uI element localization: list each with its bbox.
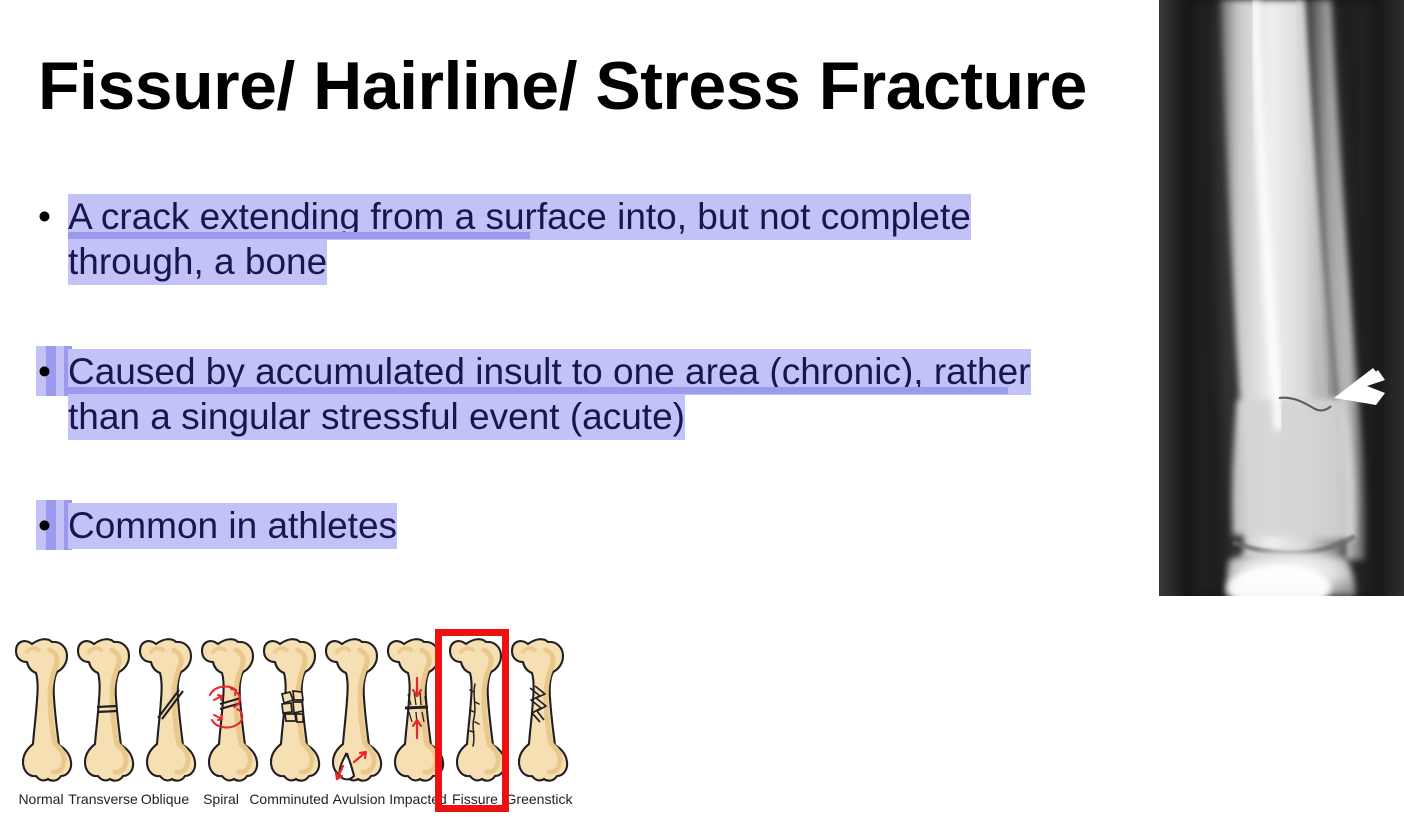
fracture-label-greenstick: Greenstick [506, 791, 574, 807]
page-title: Fissure/ Hairline/ Stress Fracture [38, 48, 1138, 124]
bone-avulsion [326, 639, 381, 780]
bullet-text-2: Caused by accumulated insult to one area… [68, 349, 1048, 439]
xray-image [1159, 0, 1404, 596]
bone-oblique [140, 639, 195, 780]
bullet-marker-icon: • [38, 194, 68, 239]
fracture-label-comminuted: Comminuted [249, 791, 328, 807]
fracture-label-avulsion: Avulsion [333, 791, 386, 807]
bullet-1-underline-strip [68, 232, 530, 239]
slide-canvas: Fissure/ Hairline/ Stress Fracture • A c… [0, 0, 1404, 817]
fracture-label-normal: Normal [18, 791, 63, 807]
bullet-text-2-content: Caused by accumulated insult to one area… [68, 349, 1031, 440]
bone-spiral [202, 639, 257, 780]
fissure-highlight-box [435, 629, 509, 812]
bone-normal [16, 639, 71, 780]
bullet-2-underline-strip [68, 387, 1008, 394]
bullet-text-3: Common in athletes [68, 503, 397, 548]
bone-greenstick [512, 639, 567, 780]
fracture-label-oblique: Oblique [141, 791, 189, 807]
bullet-marker-icon: • [38, 503, 68, 548]
bullet-text-1-content: A crack extending from a surface into, b… [68, 194, 971, 285]
bone-comminuted [264, 639, 319, 780]
bullet-text-1: A crack extending from a surface into, b… [68, 194, 1098, 284]
bullet-marker-icon: • [38, 349, 68, 394]
fracture-label-spiral: Spiral [203, 791, 239, 807]
bullet-text-3-content: Common in athletes [68, 503, 397, 549]
fracture-label-transverse: Transverse [68, 791, 138, 807]
bone-transverse [78, 639, 133, 780]
